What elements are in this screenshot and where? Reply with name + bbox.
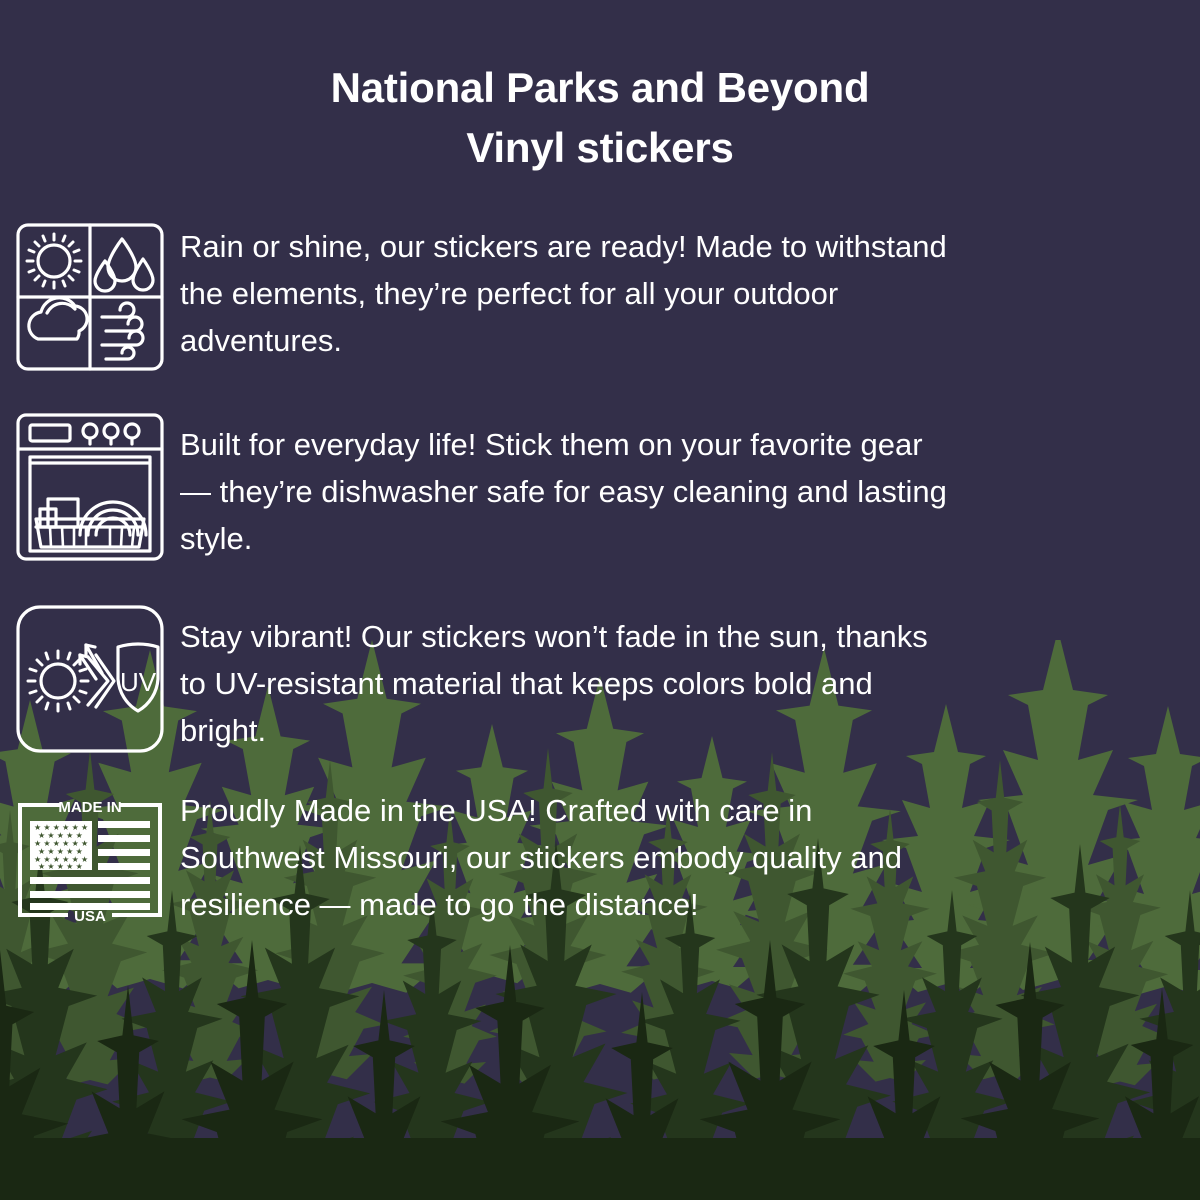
- page-title-line2: Vinyl stickers: [0, 118, 1200, 178]
- uv-shield-icon: UV: [10, 599, 170, 759]
- poster-canvas: National Parks and Beyond Vinyl stickers: [0, 0, 1200, 1200]
- svg-text:★ ★ ★ ★ ★: ★ ★ ★ ★ ★: [38, 862, 83, 871]
- feature-row-made-in-usa: MADE IN USA: [0, 785, 1200, 928]
- feature-row-dishwasher: Built for everyday life! Stick them on y…: [0, 403, 1200, 567]
- forest-layer-deep: [0, 940, 1200, 1200]
- usa-label: USA: [74, 908, 106, 925]
- feature-row-weather: Rain or shine, our stickers are ready! M…: [0, 213, 1200, 377]
- icon-cell: [0, 213, 180, 377]
- feature-text-uv: Stay vibrant! Our stickers won’t fade in…: [180, 595, 960, 754]
- feature-text-made-in-usa: Proudly Made in the USA! Crafted with ca…: [180, 785, 960, 928]
- flag-stars: ★ ★ ★ ★ ★ ★ ★ ★ ★ ★ ★ ★ ★ ★ ★ ★ ★ ★ ★ ★ …: [34, 823, 88, 871]
- feature-text-dishwasher: Built for everyday life! Stick them on y…: [180, 403, 960, 562]
- weather-grid-icon: [10, 217, 170, 377]
- knob-group: [83, 424, 139, 444]
- icon-cell: MADE IN USA: [0, 785, 180, 925]
- feature-list: Rain or shine, our stickers are ready! M…: [0, 213, 1200, 928]
- uv-label: UV: [120, 667, 157, 697]
- made-in-label: MADE IN: [58, 799, 121, 816]
- made-in-usa-flag-icon: MADE IN USA: [10, 795, 170, 925]
- icon-cell: UV: [0, 595, 180, 759]
- feature-row-uv: UV Stay vibrant! Our stickers won’t fade…: [0, 595, 1200, 759]
- dishwasher-icon: [10, 407, 170, 567]
- feature-text-weather: Rain or shine, our stickers are ready! M…: [180, 213, 960, 364]
- poster-header: National Parks and Beyond Vinyl stickers: [0, 0, 1200, 177]
- page-title-line1: National Parks and Beyond: [0, 58, 1200, 118]
- icon-cell: [0, 403, 180, 567]
